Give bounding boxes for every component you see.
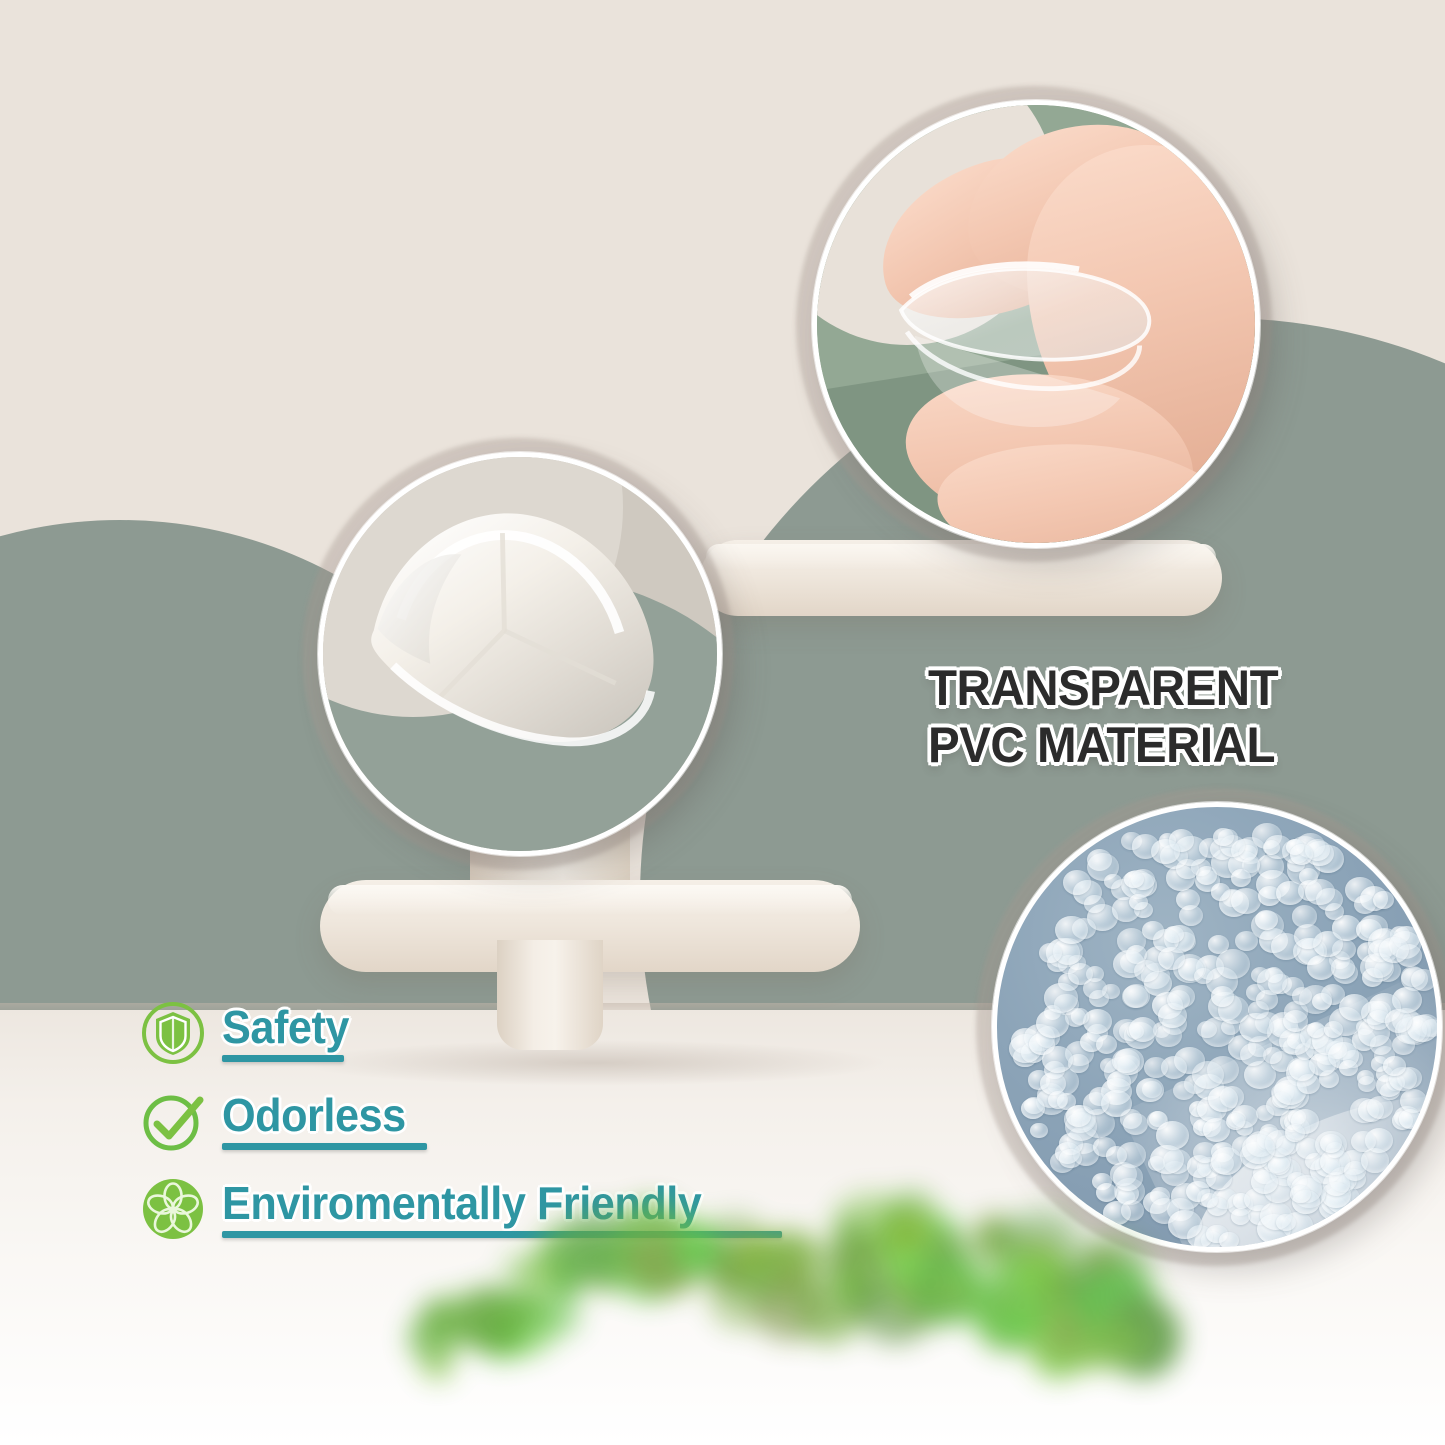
pellet [1063, 870, 1091, 895]
pellet [1150, 1145, 1184, 1175]
lens-pvc-pellets [992, 802, 1442, 1252]
feature-label-odorless: Odorless [222, 1092, 406, 1138]
pellet [1096, 1035, 1118, 1054]
pellet [1231, 888, 1261, 914]
pellet [1216, 949, 1250, 979]
feature-item-odorless: Odorless [140, 1088, 732, 1154]
pellet [1144, 1057, 1168, 1078]
pellet [1235, 931, 1258, 952]
flower-circle-icon [140, 1176, 206, 1242]
held-corner-guard [817, 105, 1255, 543]
lens-corner-guard-macro [318, 452, 722, 856]
pellet-field [997, 807, 1437, 1247]
pellet [1194, 968, 1213, 984]
feature-underline-odorless [222, 1143, 427, 1150]
pellet [1211, 986, 1234, 1006]
pellet [1055, 916, 1088, 945]
pellet [1226, 1113, 1245, 1130]
pellet [1305, 879, 1335, 905]
headline-line-2: PVC MATERIAL [928, 717, 1375, 774]
lens-hand-holding-guard [812, 100, 1260, 548]
pellet [1021, 1098, 1045, 1119]
pellet [1383, 1056, 1405, 1076]
pellet [1083, 978, 1107, 999]
feature-underline-environment [222, 1231, 782, 1238]
pellet [1197, 1021, 1217, 1039]
feature-item-safety: Safety [140, 1000, 732, 1066]
pellet [1231, 869, 1251, 887]
pellet [1123, 1113, 1148, 1135]
feature-list: Safety Odorless [140, 1000, 732, 1242]
pellet [1231, 1208, 1250, 1225]
feature-underline-safety [222, 1055, 344, 1062]
pellet [1179, 905, 1204, 927]
check-circle-icon [140, 1088, 206, 1154]
pellet [1411, 969, 1435, 990]
pellet [1276, 881, 1304, 905]
pellet [1324, 1021, 1343, 1038]
pellet [1208, 1086, 1237, 1112]
pellet [1121, 1200, 1144, 1220]
pellet [1251, 967, 1269, 983]
pellet [1036, 1009, 1069, 1038]
pellet [1323, 1172, 1350, 1196]
pellet [1219, 1232, 1238, 1247]
pellet [1129, 1017, 1157, 1042]
pellet [1283, 1010, 1308, 1032]
pellet [1136, 1078, 1164, 1102]
pellet [1030, 1123, 1048, 1139]
pellet [1083, 1092, 1109, 1115]
feature-label-safety: Safety [222, 1004, 349, 1050]
pellet [1255, 910, 1278, 930]
pellet [1124, 871, 1144, 889]
pellet [1361, 1148, 1389, 1172]
headline-line-1: TRANSPARENT [928, 660, 1375, 717]
pellet [1196, 866, 1217, 885]
pellet [1290, 844, 1313, 864]
pellet [1307, 955, 1335, 980]
feature-item-environment: Enviromentally Friendly [140, 1176, 732, 1242]
pellet [1290, 1185, 1310, 1203]
display-shelf-upper [700, 540, 1222, 616]
pellet [1240, 1043, 1266, 1066]
feature-text-safety: Safety [222, 1004, 357, 1062]
pellet [1132, 834, 1160, 858]
pellet [1320, 1134, 1342, 1154]
pellet [1373, 891, 1394, 909]
feature-text-odorless: Odorless [222, 1092, 417, 1150]
pellet [1059, 1149, 1081, 1169]
pellet [1042, 1046, 1073, 1074]
shield-icon [140, 1000, 206, 1066]
pellet [1339, 1060, 1358, 1076]
pellet [1096, 1183, 1118, 1202]
pellet [1039, 943, 1061, 963]
pellet [1292, 987, 1312, 1005]
pellet [1339, 994, 1370, 1021]
feature-text-environment: Enviromentally Friendly [222, 1180, 732, 1238]
pellet [1123, 984, 1150, 1008]
pellet [1242, 1134, 1275, 1163]
pellet [1168, 1210, 1201, 1239]
pellet [1142, 921, 1164, 940]
pellet [1167, 990, 1190, 1010]
product-feature-graphic: TRANSPARENT PVC MATERIAL Safety [0, 0, 1445, 1445]
pellet [1312, 993, 1332, 1010]
corner-guard-magnified [323, 457, 717, 851]
pellet [1385, 1009, 1412, 1033]
pellet [1289, 1058, 1315, 1081]
pellet [1211, 883, 1230, 900]
pellet [1134, 960, 1159, 982]
pellet [1113, 1164, 1143, 1191]
pellet [1129, 894, 1148, 910]
pellet [1399, 1109, 1421, 1128]
feature-label-environment: Enviromentally Friendly [222, 1180, 701, 1226]
pellet [1211, 1147, 1242, 1174]
headline: TRANSPARENT PVC MATERIAL [928, 660, 1375, 774]
